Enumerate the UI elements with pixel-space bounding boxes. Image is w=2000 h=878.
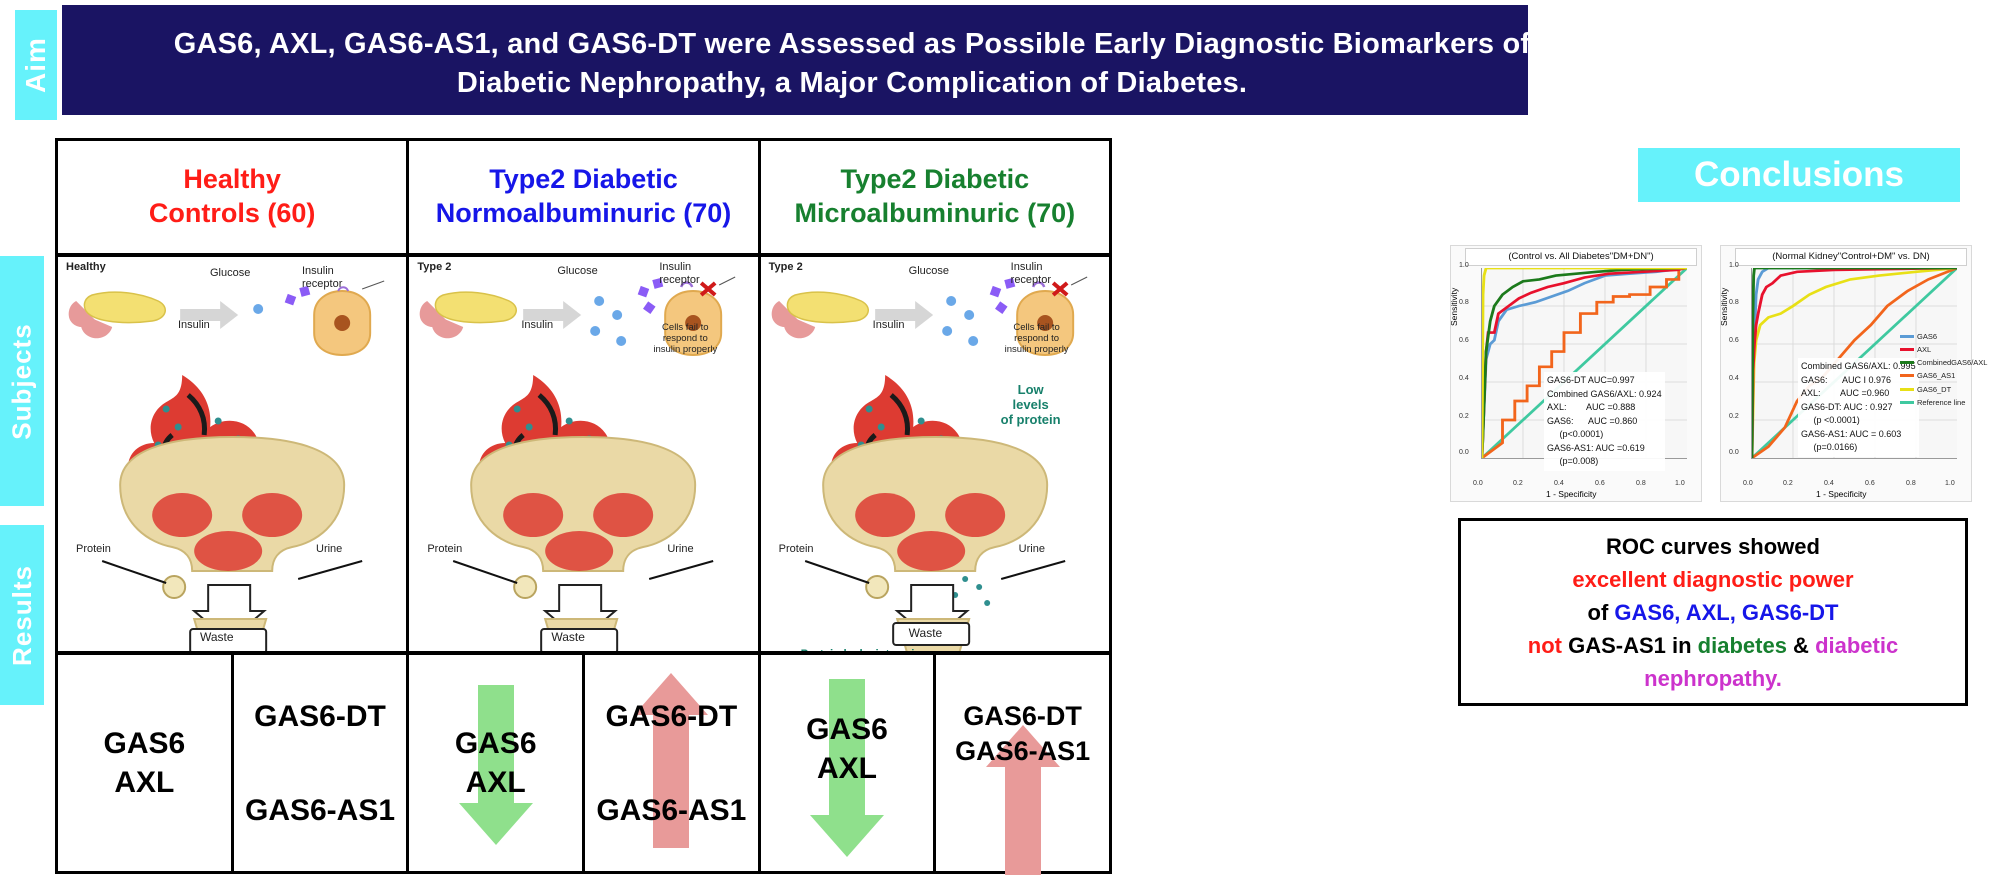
results-col-microalbuminuric: GAS6 AXL GAS6-DT GAS6-AS1 <box>758 652 1112 874</box>
roc-right-xlabel: 1 - Specificity <box>1816 489 1867 499</box>
conclusion-line-3: of GAS6, AXL, GAS6-DT <box>1588 596 1839 629</box>
results-healthy-gas6dt: GAS6-DT <box>254 697 386 736</box>
label-protein-1: Protein <box>76 543 111 556</box>
label-cell-type-3: Type 2 <box>769 261 803 274</box>
conclusion-line-3-genes: GAS6, AXL, GAS6-DT <box>1614 600 1838 625</box>
label-waste-1: Waste <box>200 631 234 645</box>
kidney-diagram-healthy: Protein Urine Waste <box>58 365 406 654</box>
roc-left-annotation: GAS6-DT AUC=0.997 Combined GAS6/AXL: 0.9… <box>1544 372 1665 471</box>
label-urine-2: Urine <box>667 543 693 556</box>
group-header-row: Healthy Controls (60) Type2 Diabetic Nor… <box>55 138 1112 256</box>
roc-left-title: (Control vs. All Diabetes"DM+DN") <box>1465 248 1697 266</box>
illustration-cell-microalbuminuric: Type 2 Glucose Insulin Insulin receptor … <box>758 254 1112 654</box>
results-micro-left: GAS6 AXL <box>761 655 934 871</box>
conclusions-tab: Conclusions <box>1638 148 1960 202</box>
conclusion-line-1: ROC curves showed <box>1606 530 1820 563</box>
group-header-normoalbuminuric: Type2 Diabetic Normoalbuminuric (70) <box>406 138 757 256</box>
results-normo-right: GAS6-DT GAS6-AS1 <box>582 655 758 871</box>
results-row: GAS6 AXL GAS6-DT GAS6-AS1 GAS6 AXL <box>55 652 1112 874</box>
label-glucose-3: Glucose <box>909 265 949 278</box>
legend-swatch-gas6dt <box>1900 388 1914 391</box>
roc-left-xlabel: 1 - Specificity <box>1546 489 1597 499</box>
label-insulin-receptor-2: Insulin receptor <box>659 261 699 286</box>
label-insulin-3: Insulin <box>873 319 905 332</box>
conclusion-line-4: not GAS-AS1 in diabetes & diabetic <box>1528 629 1898 662</box>
legend-swatch-reference <box>1900 401 1914 404</box>
group-header-micro-line2: Microalbuminuric (70) <box>795 198 1076 228</box>
group-header-healthy-line1: Healthy <box>183 164 281 194</box>
kidney-diagram-micro: Protein Urine Waste Low levels of protei… <box>761 365 1109 654</box>
section-tab-aim: Aim <box>15 10 57 120</box>
legend-label-reference: Reference line <box>1917 396 1965 409</box>
section-tab-subjects: Subjects <box>0 256 44 506</box>
conclusion-line-4-not: not <box>1528 633 1562 658</box>
aim-title: GAS6, AXL, GAS6-AS1, and GAS6-DT were As… <box>142 25 1562 102</box>
label-protein-3: Protein <box>779 543 814 556</box>
section-tab-results-label: Results <box>7 565 38 666</box>
conclusion-line-3-prefix: of <box>1588 600 1615 625</box>
legend-swatch-gas6as1 <box>1900 374 1914 377</box>
legend-label-combined: CombinedGAS6/AXL <box>1917 356 1987 369</box>
conclusion-line-2: excellent diagnostic power <box>1572 563 1853 596</box>
section-tab-aim-label: Aim <box>20 37 52 93</box>
legend-item-combined: CombinedGAS6/AXL <box>1900 356 1987 369</box>
results-micro-genes: GAS6 AXL <box>806 710 888 788</box>
results-col-normoalbuminuric: GAS6 AXL GAS6-DT GAS6-AS1 <box>406 652 757 874</box>
results-normo-gas6dt: GAS6-DT <box>605 697 737 736</box>
legend-label-gas6: GAS6 <box>1917 330 1937 343</box>
label-protein-2: Protein <box>427 543 462 556</box>
label-urine-1: Urine <box>316 543 342 556</box>
roc-chart-control-vs-all-diabetes: (Control vs. All Diabetes"DM+DN") Sensit… <box>1450 245 1702 502</box>
group-header-microalbuminuric: Type2 Diabetic Microalbuminuric (70) <box>758 138 1112 256</box>
group-header-micro-line1: Type2 Diabetic <box>841 164 1030 194</box>
legend-item-gas6as1: GAS6_AS1 <box>1900 369 1987 382</box>
results-healthy-right: GAS6-DT GAS6-AS1 <box>231 655 407 871</box>
legend-swatch-gas6 <box>1900 335 1914 338</box>
results-normo-gas6as1: GAS6-AS1 <box>596 791 746 830</box>
results-healthy-left: GAS6 AXL <box>58 655 231 871</box>
label-insulin-2: Insulin <box>521 319 553 332</box>
section-tab-subjects-label: Subjects <box>7 323 38 439</box>
illustration-row: Healthy Glucose Insulin Insulin receptor <box>55 254 1112 654</box>
roc-left-ylabel: Sensitivity <box>1449 288 1459 326</box>
roc-right-ylabel: Sensitivity <box>1719 288 1729 326</box>
aim-banner: GAS6, AXL, GAS6-AS1, and GAS6-DT were As… <box>62 5 1528 115</box>
conclusion-line-4-diabetic: diabetic <box>1815 633 1898 658</box>
label-insulin-1: Insulin <box>178 319 210 332</box>
label-low-protein: Low levels of protein <box>1001 383 1061 428</box>
conclusion-line-4-diabetes: diabetes <box>1698 633 1787 658</box>
label-cells-fail-2: Cells fail to respond to insulin properl… <box>653 323 717 356</box>
results-healthy-genes: GAS6 AXL <box>103 724 185 802</box>
section-tab-results: Results <box>0 525 44 705</box>
roc-legend: GAS6 AXL CombinedGAS6/AXL GAS6_AS1 GAS6_… <box>1900 330 1987 409</box>
kidney-diagram-normo: Protein Urine Waste <box>409 365 757 654</box>
legend-item-gas6: GAS6 <box>1900 330 1987 343</box>
insulin-diagram-normo: Type 2 Glucose Insulin Insulin receptor … <box>409 257 757 367</box>
roc-left-plot: GAS6-DT AUC=0.997 Combined GAS6/AXL: 0.9… <box>1481 268 1687 459</box>
results-col-healthy: GAS6 AXL GAS6-DT GAS6-AS1 <box>55 652 406 874</box>
insulin-diagram-healthy: Healthy Glucose Insulin Insulin receptor <box>58 257 406 367</box>
label-glucose-2: Glucose <box>557 265 597 278</box>
label-cells-fail-3: Cells fail to respond to insulin properl… <box>1005 323 1069 356</box>
label-waste-3: Waste <box>909 627 943 641</box>
conclusions-box: ROC curves showed excellent diagnostic p… <box>1458 518 1968 706</box>
legend-item-axl: AXL <box>1900 343 1987 356</box>
label-waste-2: Waste <box>551 631 585 645</box>
legend-label-gas6dt: GAS6_DT <box>1917 383 1951 396</box>
subjects-results-grid: Healthy Controls (60) Type2 Diabetic Nor… <box>55 138 1112 874</box>
results-normo-genes: GAS6 AXL <box>455 724 537 802</box>
group-header-normo-line2: Normoalbuminuric (70) <box>436 198 732 228</box>
label-insulin-receptor-1: Insulin receptor <box>302 265 342 290</box>
results-normo-left: GAS6 AXL <box>409 655 582 871</box>
roc-right-title: (Normal Kidney"Control+DM" vs. DN) <box>1735 248 1967 266</box>
results-micro-right: GAS6-DT GAS6-AS1 <box>933 655 1109 871</box>
legend-swatch-axl <box>1900 348 1914 351</box>
kidney-diagram-svg <box>58 365 406 654</box>
group-header-healthy: Healthy Controls (60) <box>55 138 406 256</box>
label-insulin-receptor-3: Insulin receptor <box>1011 261 1051 286</box>
insulin-diagram-micro: Type 2 Glucose Insulin Insulin receptor … <box>761 257 1109 367</box>
results-healthy-gas6as1: GAS6-AS1 <box>245 791 395 830</box>
roc-charts-area: (Control vs. All Diabetes"DM+DN") Sensit… <box>1432 245 1992 500</box>
legend-item-gas6dt: GAS6_DT <box>1900 383 1987 396</box>
legend-item-reference: Reference line <box>1900 396 1987 409</box>
illustration-cell-normoalbuminuric: Type 2 Glucose Insulin Insulin receptor … <box>406 254 757 654</box>
illustration-cell-healthy: Healthy Glucose Insulin Insulin receptor <box>55 254 406 654</box>
conclusion-line-5: nephropathy. <box>1644 662 1782 695</box>
legend-swatch-combined <box>1900 361 1914 364</box>
results-micro-genes-up: GAS6-DT GAS6-AS1 <box>955 699 1090 769</box>
conclusion-line-4-amp: & <box>1787 633 1815 658</box>
label-cell-type-2: Type 2 <box>417 261 451 274</box>
conclusion-line-4-mid: GAS-AS1 in <box>1562 633 1698 658</box>
label-urine-3: Urine <box>1019 543 1045 556</box>
conclusions-tab-label: Conclusions <box>1694 155 1904 195</box>
group-header-healthy-line2: Controls (60) <box>149 198 316 228</box>
legend-label-axl: AXL <box>1917 343 1931 356</box>
group-header-normo-line1: Type2 Diabetic <box>489 164 678 194</box>
label-cell-type-1: Healthy <box>66 261 106 274</box>
legend-label-gas6as1: GAS6_AS1 <box>1917 369 1955 382</box>
kidney-diagram-svg <box>409 365 757 654</box>
label-glucose-1: Glucose <box>210 267 250 280</box>
